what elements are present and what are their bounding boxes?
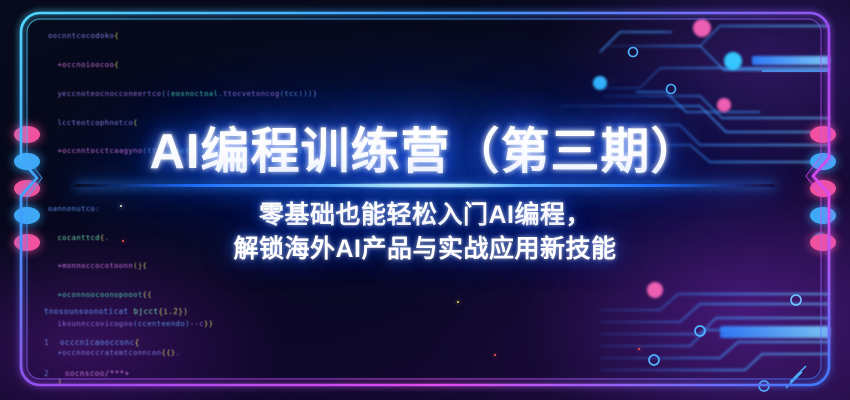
speckle [638,348,640,350]
subtitle-line-2: 解锁海外AI产品与实战应用新技能 [0,232,850,266]
main-title: AI编程训练营（第三期） [0,112,850,183]
speckle [457,301,459,303]
subtitle-block: 零基础也能轻松入门AI编程， 解锁海外AI产品与实战应用新技能 [0,198,850,266]
subtitle-line-1: 零基础也能轻松入门AI编程， [0,198,850,232]
code-text-bottom: tnosounsoonoticat bjcct{i.2}) 1occcnicao… [44,286,418,400]
title-block: AI编程训练营（第三期） [0,112,850,183]
light-beam-core [335,183,515,188]
speckle [494,354,496,356]
promo-banner: oocnntcocodoko{ +occnoioocoo{ yeccnoteoc… [0,0,850,400]
